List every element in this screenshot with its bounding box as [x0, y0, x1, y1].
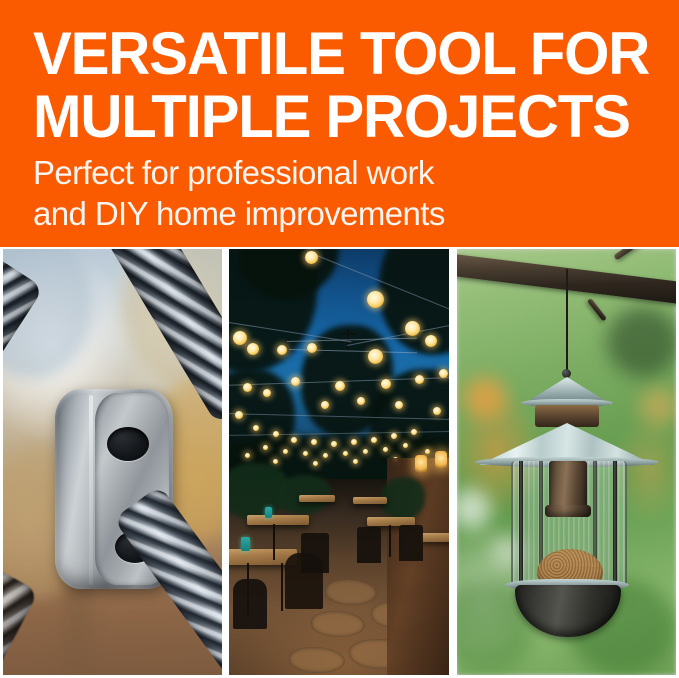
clamp-edge-highlight	[89, 395, 93, 585]
headline-banner: VERSATILE TOOL FOR MULTIPLE PROJECTS Per…	[0, 0, 679, 247]
bulb-large-4	[233, 331, 247, 345]
bulb-far-21	[353, 459, 358, 464]
bulb-far-1	[253, 425, 259, 431]
bokeh-dark-right	[607, 307, 676, 377]
bulb-far-20	[313, 461, 318, 466]
bulb-far-9	[411, 429, 417, 435]
photo-gallery-strip	[0, 247, 679, 678]
bulb-large-6	[425, 335, 437, 347]
feeder-post-left	[519, 461, 523, 589]
feeder-tube-collar	[545, 505, 591, 517]
bulb-far-6	[351, 439, 357, 445]
paving-stone-1	[325, 579, 377, 605]
patio-chair-3	[357, 527, 381, 563]
patio-table-2	[247, 515, 309, 525]
bulb-far-7	[371, 437, 377, 443]
wall-lantern-2	[435, 451, 447, 469]
bulb-far-18	[245, 453, 250, 458]
page-subtitle: Perfect for professional work and DIY ho…	[33, 152, 653, 234]
bulb-far-2	[273, 431, 279, 437]
table-lantern-2	[265, 507, 272, 518]
wall-lantern-1	[415, 455, 427, 473]
headline-line-2: MULTIPLE PROJECTS	[33, 85, 660, 148]
bulb-far-10	[263, 445, 268, 450]
bulb-far-23	[425, 449, 430, 454]
bokeh-warm-left	[463, 377, 507, 419]
feeder-wire-knob	[562, 369, 571, 378]
product-infographic-banner: VERSATILE TOOL FOR MULTIPLE PROJECTS Per…	[0, 0, 679, 678]
bulb-mid-7	[439, 369, 448, 378]
bulb-far-14	[343, 451, 348, 456]
bulb-far-13	[323, 453, 328, 458]
bulb-mid-9	[263, 389, 271, 397]
bulb-far-11	[283, 449, 288, 454]
patio-table-4	[299, 495, 335, 502]
bulb-large-5	[247, 343, 259, 355]
bulb-far-17	[403, 443, 408, 448]
bulb-mid-5	[381, 379, 391, 389]
bulb-large-1	[367, 291, 384, 308]
bulb-mid-13	[433, 407, 441, 415]
patio-chair-4	[399, 525, 423, 561]
paving-stone-3	[311, 611, 365, 637]
bulb-far-3	[291, 437, 297, 443]
page-title: VERSATILE TOOL FOR MULTIPLE PROJECTS	[33, 22, 679, 148]
patio-table-6	[421, 533, 449, 542]
bulb-mid-6	[415, 375, 424, 384]
bulb-mid-2	[307, 343, 317, 353]
bulb-mid-3	[335, 381, 345, 391]
table-leg-2	[273, 524, 275, 560]
bulb-far-16	[383, 447, 388, 452]
bulb-mid-10	[357, 397, 365, 405]
bulb-far-8	[391, 433, 397, 439]
bulb-mid-14	[235, 411, 243, 419]
bulb-far-19	[273, 459, 278, 464]
bulb-large-3	[368, 349, 383, 364]
bulb-mid-1	[277, 345, 287, 355]
patio-string-lights-photo	[229, 249, 449, 675]
paving-stone-5	[289, 647, 345, 673]
feeder-post-right	[613, 461, 617, 589]
subtitle-line-1: Perfect for professional work	[33, 152, 653, 193]
bulb-far-5	[331, 441, 337, 447]
utility-crossarm	[341, 333, 355, 335]
table-leg-3	[389, 525, 391, 557]
patio-table-5	[353, 497, 387, 504]
clamp-hole-top	[107, 427, 149, 461]
headline-line-1: VERSATILE TOOL FOR	[33, 22, 660, 85]
bulb-far-12	[303, 451, 308, 456]
bokeh-warm-right	[639, 387, 676, 427]
table-lantern-front	[241, 537, 250, 551]
bulb-mid-11	[395, 401, 403, 409]
subtitle-line-2: and DIY home improvements	[33, 193, 653, 234]
hanging-bird-feeder-photo	[457, 249, 676, 675]
patio-chair-5	[233, 579, 267, 629]
feeder-hanging-wire	[566, 269, 568, 373]
bulb-mid-4	[291, 377, 300, 386]
bulb-far-4	[311, 439, 317, 445]
table-leg-front-2	[281, 563, 283, 611]
bulb-large-2	[405, 321, 420, 336]
bulb-far-15	[363, 449, 368, 454]
bulb-mid-12	[321, 401, 329, 409]
patio-chair-2	[301, 533, 329, 573]
bulb-large-7	[305, 251, 318, 264]
rope-pulley-clamp-photo	[3, 249, 222, 675]
bulb-mid-8	[243, 383, 252, 392]
